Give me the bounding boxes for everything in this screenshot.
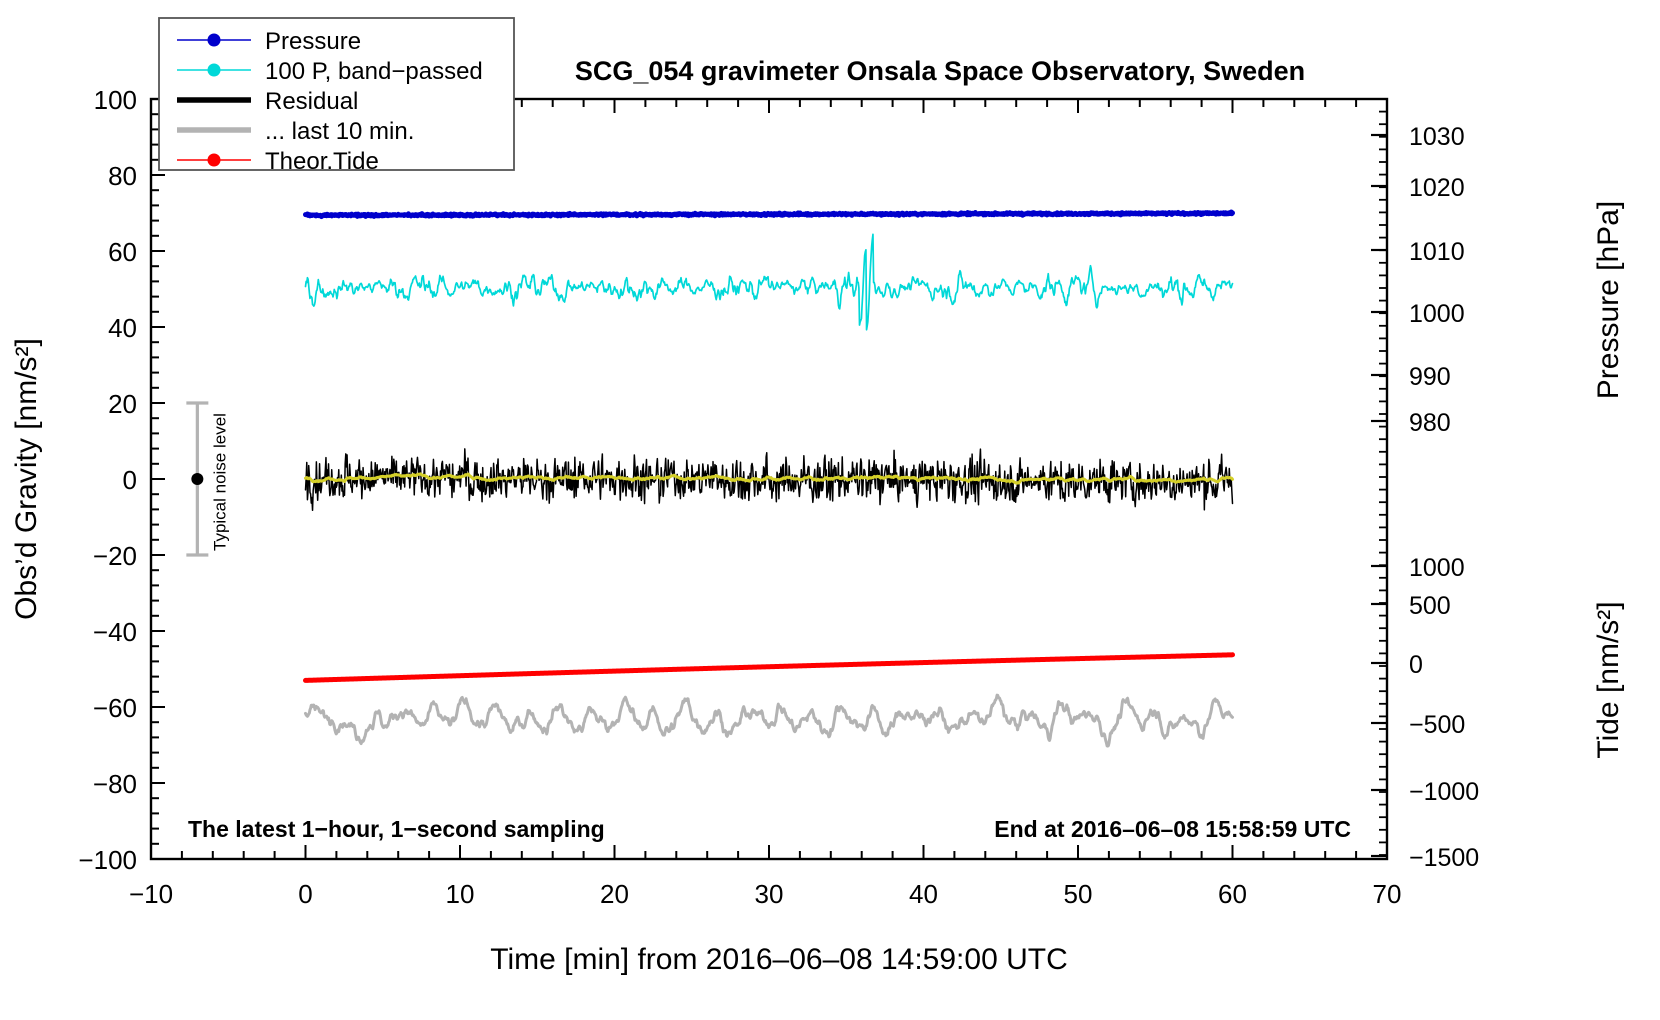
tide-tick-label: 0 <box>1409 651 1423 679</box>
y-tick-label: −100 <box>78 845 137 875</box>
chart-title: SCG_054 gravimeter Onsala Space Observat… <box>575 56 1305 86</box>
x-tick-label: 60 <box>1218 879 1247 909</box>
tide-axis-title: Tide [nm/s²] <box>1592 601 1625 758</box>
legend-label: Residual <box>265 88 358 115</box>
noise-bar-center-dot <box>191 473 203 485</box>
x-axis-title: Time [min] from 2016–06–08 14:59:00 UTC <box>490 943 1068 976</box>
typical-noise-level-annotation: Typical noise level <box>186 403 229 555</box>
y-tick-label: 0 <box>123 465 137 495</box>
tide-tick-label: 500 <box>1409 592 1451 620</box>
x-tick-label: 20 <box>600 879 629 909</box>
y-tick-label: 80 <box>108 161 137 191</box>
legend-label: Pressure <box>265 28 361 55</box>
bottom-left-note: The latest 1−hour, 1−second sampling <box>188 816 605 842</box>
y-tick-label: 20 <box>108 389 137 419</box>
x-tick-label: 30 <box>755 879 784 909</box>
y-tick-label: −60 <box>93 693 137 723</box>
bottom-right-note: End at 2016–06–08 15:58:59 UTC <box>994 816 1351 842</box>
y-tick-label: −80 <box>93 769 137 799</box>
y-tick-label: 100 <box>94 85 137 115</box>
pressure-tick-label: 1000 <box>1409 300 1465 328</box>
pressure-axis-title: Pressure [hPa] <box>1592 201 1625 399</box>
series-theoretical-tide <box>306 655 1233 681</box>
series-last-10-min <box>306 695 1233 746</box>
series-pressure <box>306 212 1233 217</box>
legend-label: 100 P, band−passed <box>265 58 483 85</box>
y-tick-label: 40 <box>108 313 137 343</box>
y-axis-left: 100806040200−20−40−60−80−100Obs’d Gravit… <box>10 85 165 875</box>
tide-tick-label: −1000 <box>1409 778 1479 806</box>
tide-tick-label: −500 <box>1409 711 1465 739</box>
pressure-tick-label: 1010 <box>1409 238 1465 266</box>
legend-marker-dot <box>208 154 221 167</box>
x-tick-label: 70 <box>1373 879 1402 909</box>
legend-label: ... last 10 min. <box>265 118 414 145</box>
pressure-tick-label: 1020 <box>1409 174 1465 202</box>
x-tick-label: 40 <box>909 879 938 909</box>
pressure-tick-label: 990 <box>1409 363 1451 391</box>
y-tick-label: −40 <box>93 617 137 647</box>
legend-marker-dot <box>208 34 221 47</box>
series-band-passed <box>306 234 1233 329</box>
x-tick-label: 50 <box>1064 879 1093 909</box>
chart-figure: −10010203040506070Time [min] from 2016–0… <box>0 0 1660 1020</box>
pressure-tick-label: 980 <box>1409 409 1451 437</box>
x-tick-label: 10 <box>446 879 475 909</box>
pressure-tick-label: 1030 <box>1409 123 1465 151</box>
x-axis: −10010203040506070Time [min] from 2016–0… <box>129 99 1402 976</box>
legend[interactable]: Pressure100 P, band−passedResidual... la… <box>159 18 514 175</box>
gravimeter-timeseries-plot: −10010203040506070Time [min] from 2016–0… <box>0 0 1660 1020</box>
y-tick-label: 60 <box>108 237 137 267</box>
x-tick-label: 0 <box>298 879 312 909</box>
noise-bar-label: Typical noise level <box>210 413 229 551</box>
y-axis-title: Obs’d Gravity [nm/s²] <box>10 338 43 620</box>
legend-marker-dot <box>208 64 221 77</box>
y-axis-right: 103010201010100099098010005000−500−1000−… <box>1371 99 1625 872</box>
tide-tick-label: 1000 <box>1409 554 1465 582</box>
x-tick-label: −10 <box>129 879 173 909</box>
tide-tick-label: −1500 <box>1409 844 1479 872</box>
legend-label: Theor.Tide <box>265 148 379 175</box>
y-tick-label: −20 <box>93 541 137 571</box>
